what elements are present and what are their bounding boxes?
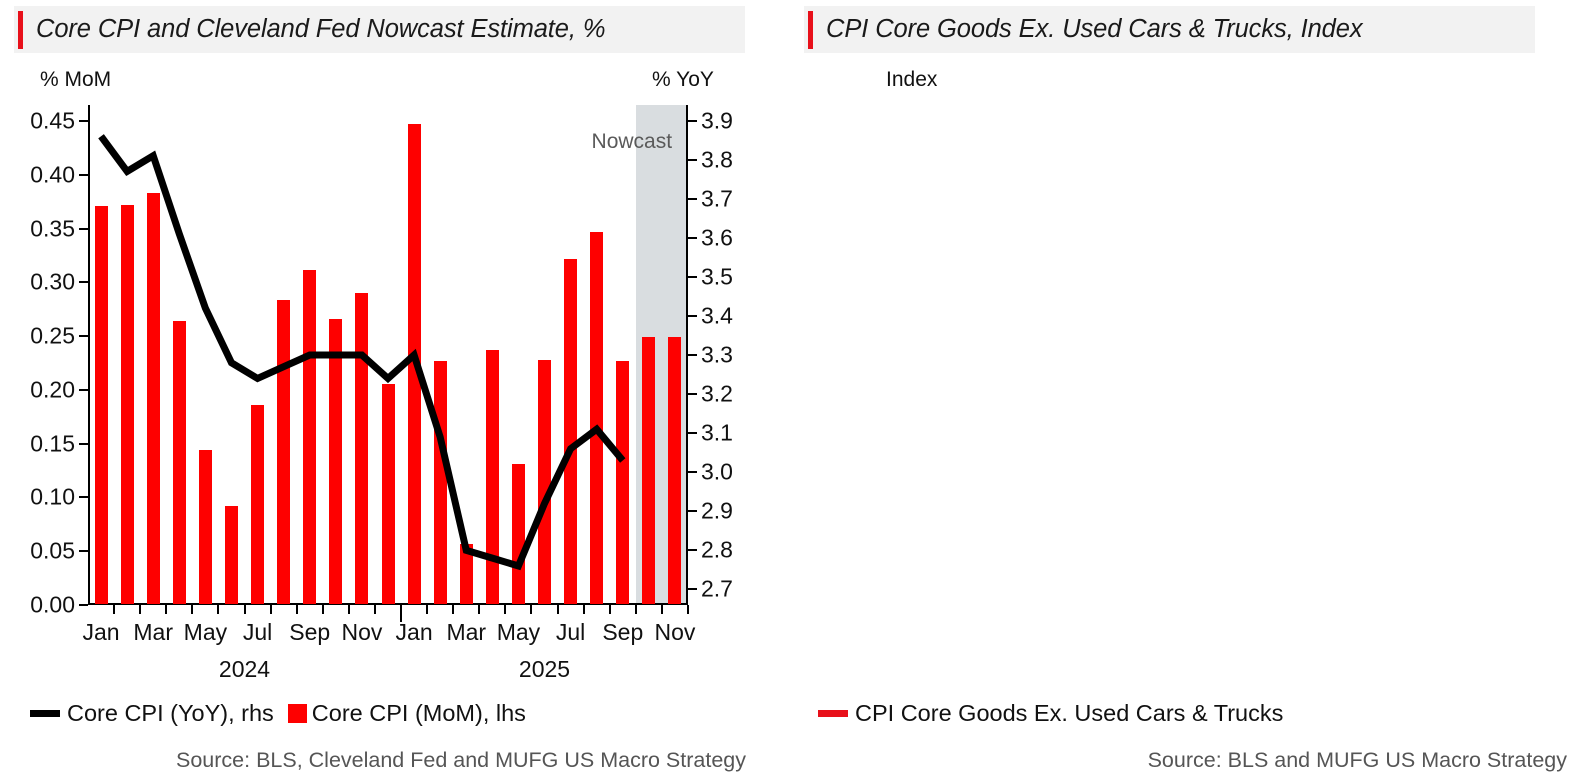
y2-tick-mark <box>688 588 697 590</box>
right-chart-source: Source: BLS and MUFG US Macro Strategy <box>1148 748 1567 773</box>
bar <box>590 232 603 604</box>
x-tick-mark <box>609 605 611 614</box>
x-tick-mark <box>270 605 272 614</box>
y-tick-mark <box>79 281 88 283</box>
x-tick-label: Mar <box>446 619 486 646</box>
x-tick-mark <box>113 605 115 614</box>
x-tick-mark <box>478 605 480 614</box>
y-tick-label: 0.30 <box>30 269 75 296</box>
x-tick-mark <box>139 605 141 614</box>
y-tick-mark <box>79 335 88 337</box>
y-tick-mark <box>79 228 88 230</box>
y-tick-label: 0.10 <box>30 484 75 511</box>
y-tick-mark <box>79 550 88 552</box>
y2-tick-mark <box>688 510 697 512</box>
bar <box>616 361 629 604</box>
x-major-tick-mark <box>400 605 402 622</box>
y-tick-label: 0.25 <box>30 323 75 350</box>
bar <box>382 384 395 604</box>
y2-tick-label: 3.4 <box>701 302 733 329</box>
y2-tick-label: 3.9 <box>701 107 733 134</box>
y-tick-label: 0.00 <box>30 592 75 619</box>
x-tick-mark <box>426 605 428 614</box>
left-chart-title-bar: Core CPI and Cleveland Fed Nowcast Estim… <box>14 6 745 53</box>
bar <box>538 360 551 604</box>
x-tick-mark <box>452 605 454 614</box>
y2-tick-label: 2.8 <box>701 537 733 564</box>
y2-tick-label: 3.7 <box>701 185 733 212</box>
x-year-label: 2025 <box>519 656 570 683</box>
bar <box>355 293 368 604</box>
x-tick-label: Jan <box>396 619 433 646</box>
x-tick-mark <box>661 605 663 614</box>
right-chart-title: CPI Core Goods Ex. Used Cars & Trucks, I… <box>826 15 1362 44</box>
right-chart-title-bar: CPI Core Goods Ex. Used Cars & Trucks, I… <box>804 6 1535 53</box>
y2-tick-mark <box>688 315 697 317</box>
x-tick-mark <box>217 605 219 614</box>
bar <box>434 361 447 604</box>
x-tick-mark <box>530 605 532 614</box>
y2-tick-mark <box>688 120 697 122</box>
line-swatch-icon <box>818 710 848 717</box>
y-tick-mark <box>79 604 88 606</box>
y2-tick-label: 3.2 <box>701 381 733 408</box>
y2-tick-label: 3.8 <box>701 146 733 173</box>
dual-chart-figure: Core CPI and Cleveland Fed Nowcast Estim… <box>0 0 1581 784</box>
y2-tick-mark <box>688 159 697 161</box>
x-tick-label: Jul <box>556 619 585 646</box>
x-tick-mark <box>635 605 637 614</box>
y-tick-label: 0.35 <box>30 215 75 242</box>
x-tick-mark <box>504 605 506 614</box>
y-tick-label: 0.05 <box>30 538 75 565</box>
x-tick-mark <box>348 605 350 614</box>
y-tick-label: 0.15 <box>30 430 75 457</box>
bar <box>329 319 342 604</box>
x-tick-label: Mar <box>133 619 173 646</box>
legend-item-core-cpi-mom: Core CPI (MoM), lhs <box>274 700 526 727</box>
left-axis-unit-rhs: % YoY <box>652 68 714 92</box>
legend-label-core-cpi-mom: Core CPI (MoM), lhs <box>312 700 526 727</box>
y2-tick-mark <box>688 354 697 356</box>
y2-tick-label: 3.0 <box>701 459 733 486</box>
bar <box>486 350 499 604</box>
y2-tick-mark <box>688 432 697 434</box>
line-swatch-icon <box>30 710 60 717</box>
bar <box>642 337 655 604</box>
x-tick-mark <box>244 605 246 614</box>
y-tick-label: 0.45 <box>30 108 75 135</box>
bar <box>147 193 160 604</box>
right-axis-unit: Index <box>886 68 937 92</box>
y2-tick-mark <box>688 198 697 200</box>
square-swatch-icon <box>288 704 307 723</box>
right-chart-panel: CPI Core Goods Ex. Used Cars & Trucks, I… <box>790 0 1581 784</box>
y2-tick-mark <box>688 393 697 395</box>
bar <box>277 300 290 604</box>
y2-tick-label: 3.6 <box>701 224 733 251</box>
left-chart-source: Source: BLS, Cleveland Fed and MUFG US M… <box>176 748 746 773</box>
x-tick-label: Jan <box>82 619 119 646</box>
y2-tick-mark <box>688 471 697 473</box>
x-tick-mark <box>374 605 376 614</box>
bar <box>460 544 473 604</box>
left-y-axis-line <box>88 105 90 605</box>
y2-tick-label: 2.7 <box>701 576 733 603</box>
x-tick-mark <box>296 605 298 614</box>
y-tick-label: 0.40 <box>30 161 75 188</box>
left-chart-title: Core CPI and Cleveland Fed Nowcast Estim… <box>36 15 605 44</box>
bar <box>121 205 134 604</box>
legend-label-core-cpi-yoy: Core CPI (YoY), rhs <box>67 700 274 727</box>
x-tick-mark <box>322 605 324 614</box>
y2-tick-mark <box>688 276 697 278</box>
y-tick-mark <box>79 389 88 391</box>
left-plot-area: 0.000.050.100.150.200.250.300.350.400.45… <box>88 105 688 605</box>
x-tick-mark <box>165 605 167 614</box>
legend-label-cpi-core-goods: CPI Core Goods Ex. Used Cars & Trucks <box>855 700 1283 727</box>
x-tick-label: Sep <box>602 619 643 646</box>
x-tick-label: Nov <box>655 619 696 646</box>
left-chart-legend: Core CPI (YoY), rhs Core CPI (MoM), lhs <box>30 700 526 727</box>
y-tick-mark <box>79 496 88 498</box>
y2-tick-mark <box>688 549 697 551</box>
y-tick-label: 0.20 <box>30 376 75 403</box>
nowcast-band-caption: Nowcast <box>592 130 673 154</box>
x-tick-label: Nov <box>341 619 382 646</box>
y-tick-mark <box>79 443 88 445</box>
y2-tick-label: 3.1 <box>701 420 733 447</box>
legend-item-cpi-core-goods: CPI Core Goods Ex. Used Cars & Trucks <box>818 700 1283 727</box>
x-tick-label: May <box>184 619 227 646</box>
bar <box>408 124 421 604</box>
bar <box>564 259 577 604</box>
x-tick-mark <box>583 605 585 614</box>
y2-tick-label: 3.5 <box>701 263 733 290</box>
y2-tick-mark <box>688 237 697 239</box>
x-tick-mark <box>557 605 559 614</box>
bar <box>225 506 238 604</box>
left-axis-unit-lhs: % MoM <box>40 68 111 92</box>
bar <box>173 321 186 604</box>
bar <box>199 450 212 604</box>
y-tick-mark <box>79 120 88 122</box>
x-tick-label: Jul <box>243 619 272 646</box>
bar <box>251 405 264 604</box>
bar <box>303 270 316 604</box>
bar <box>668 337 681 604</box>
y2-tick-label: 2.9 <box>701 498 733 525</box>
title-accent-bar <box>18 11 23 49</box>
x-tick-label: Sep <box>289 619 330 646</box>
title-accent-bar <box>808 11 813 49</box>
y2-tick-label: 3.3 <box>701 342 733 369</box>
y-tick-mark <box>79 174 88 176</box>
bar <box>95 206 108 604</box>
x-tick-label: May <box>497 619 540 646</box>
x-tick-mark <box>191 605 193 614</box>
right-chart-legend: CPI Core Goods Ex. Used Cars & Trucks <box>818 700 1283 727</box>
legend-item-core-cpi-yoy: Core CPI (YoY), rhs <box>30 700 274 727</box>
x-tick-mark <box>687 605 689 614</box>
left-chart-panel: Core CPI and Cleveland Fed Nowcast Estim… <box>0 0 760 784</box>
bar <box>512 464 525 604</box>
x-year-label: 2024 <box>219 656 270 683</box>
